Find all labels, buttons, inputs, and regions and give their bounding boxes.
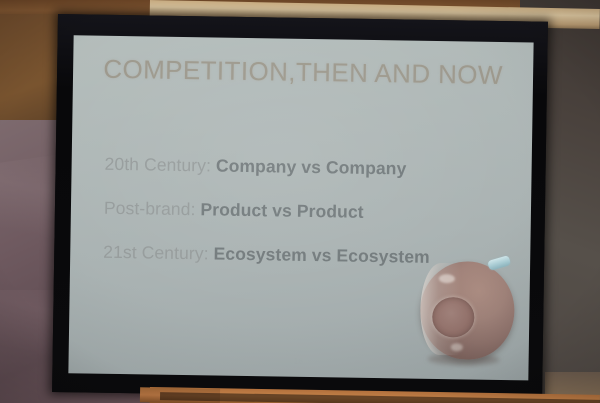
slide-bullet-1: 20th Century: Company vs Company bbox=[104, 152, 434, 182]
slide-bullet-3: 21st Century: Ecosystem vs Ecosystem bbox=[103, 239, 433, 269]
slide-bullet-2-emphasis: Product vs Product bbox=[200, 199, 364, 222]
slide-bullet-1-emphasis: Company vs Company bbox=[216, 156, 407, 179]
vessel-specular-highlight-top bbox=[439, 274, 455, 283]
slide-bullet-3-emphasis: Ecosystem vs Ecosystem bbox=[213, 243, 430, 266]
slide-title: COMPETITION,THEN AND NOW bbox=[97, 53, 509, 93]
vessel-specular-highlight-bottom bbox=[451, 343, 463, 351]
slide-bullet-2-lead: Post-brand: bbox=[104, 198, 201, 220]
vessel-blue-tab bbox=[487, 255, 511, 271]
projection-screen-frame: COMPETITION,THEN AND NOW 20th Century: C… bbox=[52, 14, 548, 400]
round-ceramic-vessel-image bbox=[413, 255, 525, 375]
slide-bullet-2: Post-brand: Product vs Product bbox=[104, 196, 434, 226]
slide-bullet-3-lead: 21st Century: bbox=[103, 241, 214, 263]
slide-bullet-list: 20th Century: Company vs Company Post-br… bbox=[103, 152, 435, 289]
slide-bullet-1-lead: 20th Century: bbox=[104, 154, 216, 176]
photo-of-projected-slide: COMPETITION,THEN AND NOW 20th Century: C… bbox=[0, 0, 600, 403]
projected-slide: COMPETITION,THEN AND NOW 20th Century: C… bbox=[68, 35, 533, 380]
